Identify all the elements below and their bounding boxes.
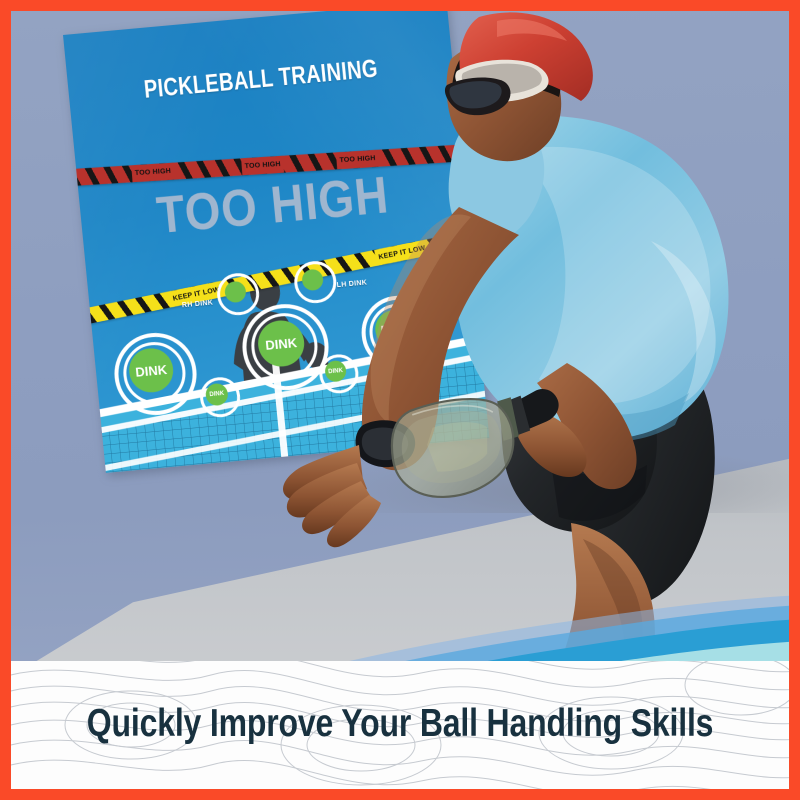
target-label: DINK xyxy=(209,391,224,398)
target-label: DINK xyxy=(380,322,408,335)
footer-band: Quickly Improve Your Ball Handling Skill… xyxy=(11,661,789,789)
footer-headline-text: Quickly Improve Your Ball Handling Skill… xyxy=(87,702,714,746)
too-high-tape-label: TOO HIGH xyxy=(241,156,284,176)
too-high-tape-label: TOO HIGH xyxy=(131,163,174,183)
target-label: DINK xyxy=(135,362,168,378)
photo-canvas: PICKLEBALL TRAINING TOO HIGH TOO HIGH TO… xyxy=(11,11,789,789)
training-banner: PICKLEBALL TRAINING TOO HIGH TOO HIGH TO… xyxy=(63,11,490,481)
banner-face: PICKLEBALL TRAINING TOO HIGH TOO HIGH TO… xyxy=(63,11,489,473)
promo-image-frame: PICKLEBALL TRAINING TOO HIGH TOO HIGH TO… xyxy=(0,0,800,800)
target-label: DINK xyxy=(328,368,343,375)
target-label: DINK xyxy=(265,336,298,352)
footer-headline: Quickly Improve Your Ball Handling Skill… xyxy=(11,702,789,746)
